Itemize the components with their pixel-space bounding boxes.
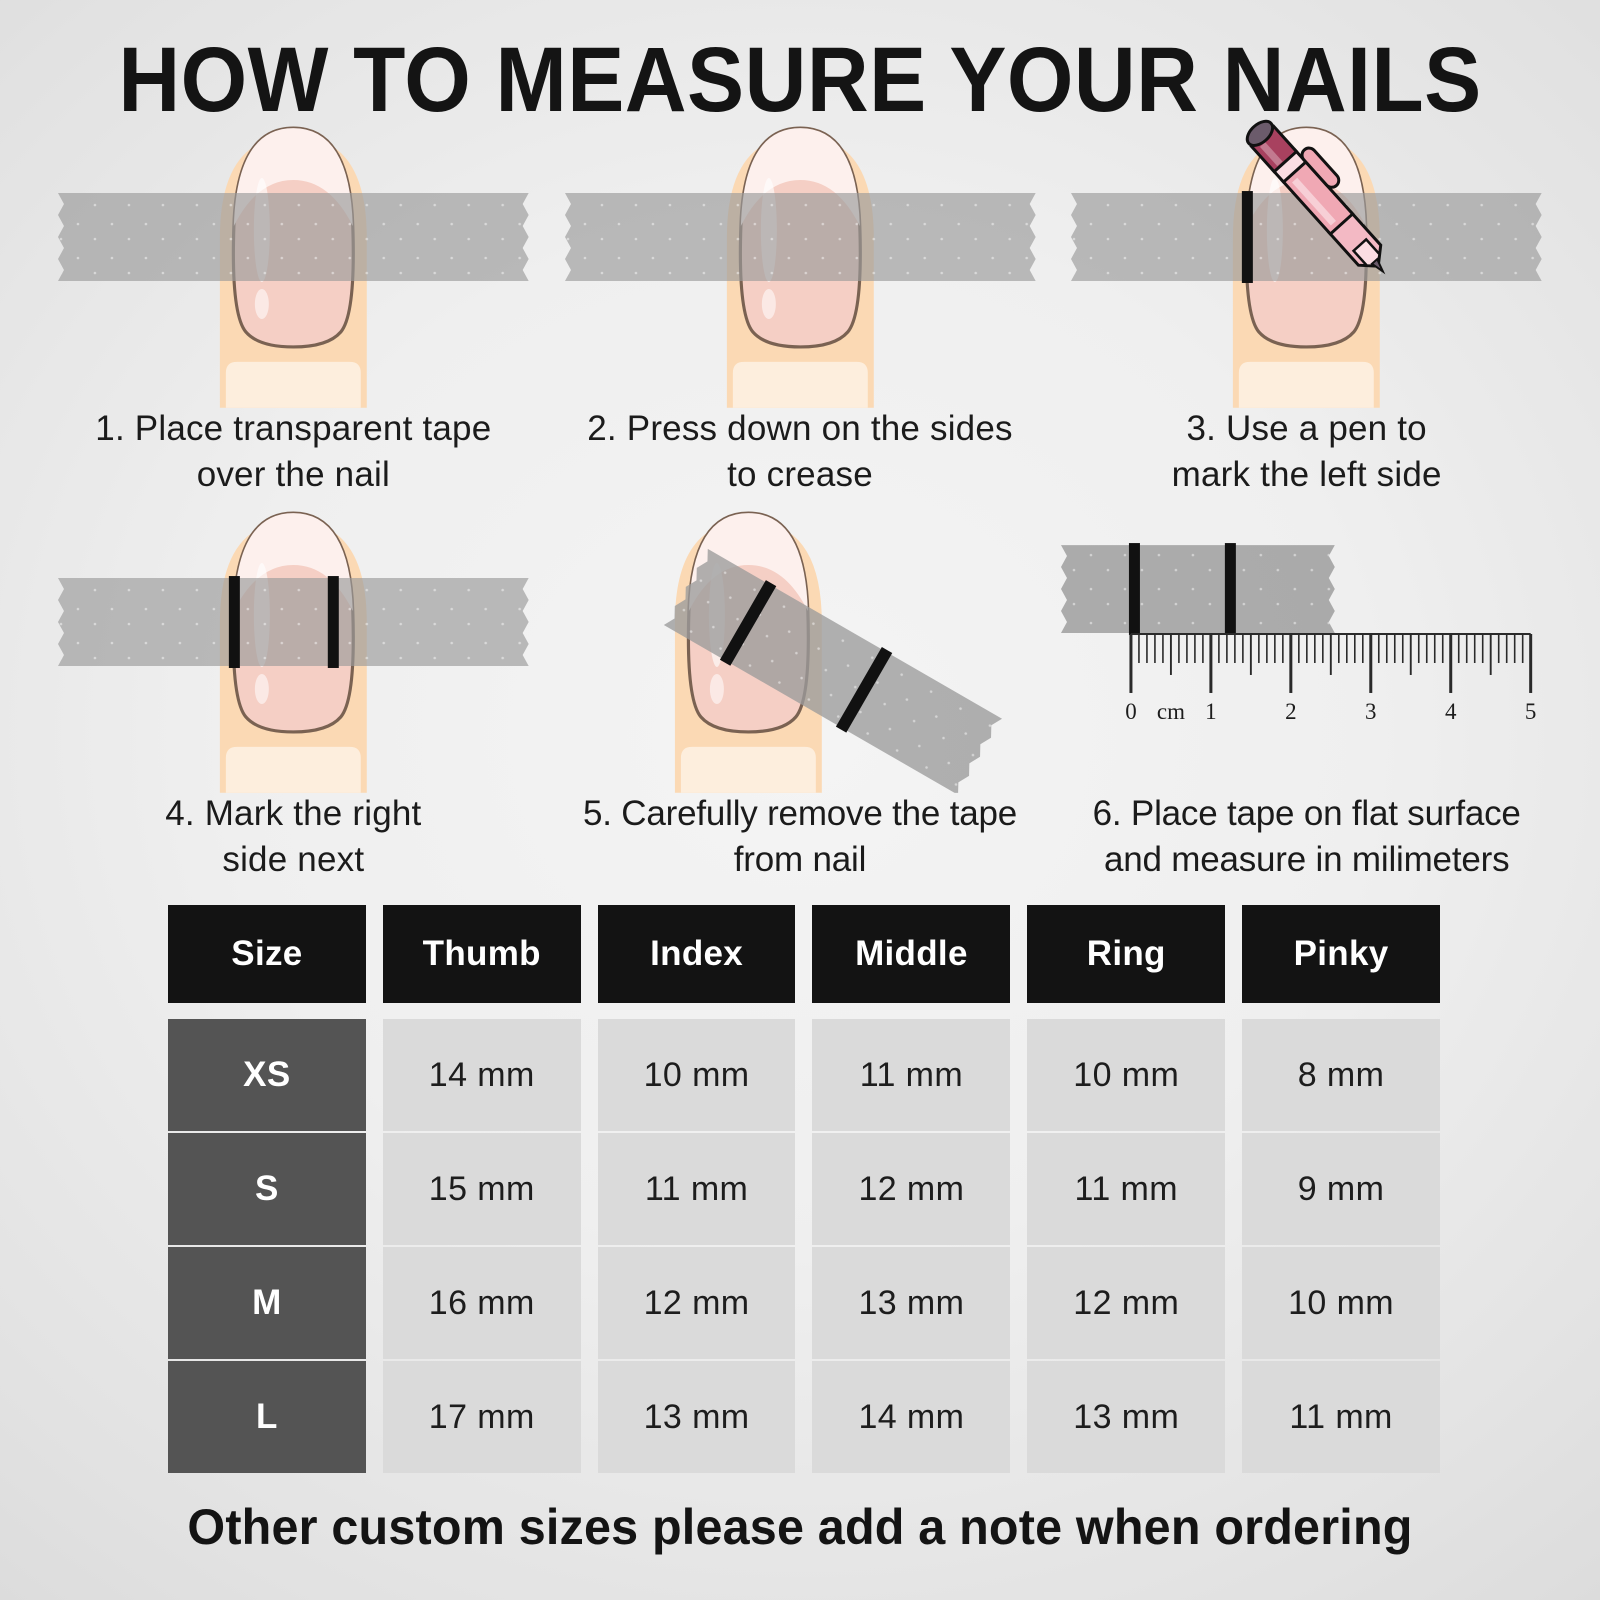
right-mark xyxy=(328,576,339,668)
table-cell: 11 mm xyxy=(1242,1361,1440,1473)
step-3-line-1: 3. Use a pen to xyxy=(1053,406,1560,452)
finger-tape-two-marks-icon xyxy=(40,503,547,793)
step-1-line-1: 1. Place transparent tape xyxy=(40,406,547,452)
ruler-label-3: 3 xyxy=(1365,699,1376,724)
ruler-label-1: 1 xyxy=(1205,699,1216,724)
table-cell: 11 mm xyxy=(1027,1133,1225,1245)
footer-note: Other custom sizes please add a note whe… xyxy=(24,1498,1576,1556)
table-cell: 13 mm xyxy=(1027,1361,1225,1473)
step-2-illustration xyxy=(547,118,1054,408)
finger-tape-pen-icon xyxy=(1053,118,1560,408)
table-header-ring: Ring xyxy=(1027,905,1225,1003)
step-6-caption: 6. Place tape on flat surface and measur… xyxy=(1053,791,1560,883)
table-row: M xyxy=(168,1247,366,1359)
step-1: 1. Place transparent tape over the nail xyxy=(40,118,547,503)
ruler-label-4: 4 xyxy=(1445,699,1457,724)
step-5-line-1: 5. Carefully remove the tape xyxy=(547,791,1054,837)
table-cell: 11 mm xyxy=(598,1133,796,1245)
step-6: 0 cm 1 2 3 4 5 6. Place tape on flat sur… xyxy=(1053,503,1560,888)
table-row: L xyxy=(168,1361,366,1473)
tape-strip xyxy=(58,193,529,281)
step-5-illustration xyxy=(547,503,1054,793)
finger-with-tape-icon xyxy=(40,118,547,408)
table-cell: 10 mm xyxy=(1027,1019,1225,1131)
step-3: 3. Use a pen to mark the left side xyxy=(1053,118,1560,503)
step-4-illustration xyxy=(40,503,547,793)
table-cell: 16 mm xyxy=(383,1247,581,1359)
step-4-line-1: 4. Mark the right xyxy=(40,791,547,837)
step-3-illustration xyxy=(1053,118,1560,408)
table-cell: 17 mm xyxy=(383,1361,581,1473)
step-1-caption: 1. Place transparent tape over the nail xyxy=(40,406,547,498)
step-5-caption: 5. Carefully remove the tape from nail xyxy=(547,791,1054,883)
step-1-line-2: over the nail xyxy=(40,452,547,498)
tape-on-ruler-icon: 0 cm 1 2 3 4 5 xyxy=(1053,503,1560,793)
table-row: XS xyxy=(168,1019,366,1131)
ruler-unit-label: cm xyxy=(1157,699,1185,724)
table-cell: 15 mm xyxy=(383,1133,581,1245)
tape-strip xyxy=(58,578,529,666)
table-cell: 12 mm xyxy=(598,1247,796,1359)
table-cell: 8 mm xyxy=(1242,1019,1440,1131)
step-6-line-2: and measure in milimeters xyxy=(1053,837,1560,883)
step-6-line-1: 6. Place tape on flat surface xyxy=(1053,791,1560,837)
left-mark xyxy=(1129,543,1140,635)
table-cell: 12 mm xyxy=(1027,1247,1225,1359)
table-row: S xyxy=(168,1133,366,1245)
table-header-index: Index xyxy=(598,905,796,1003)
ruler-label-0: 0 xyxy=(1126,699,1137,724)
finger-tape-removed-icon xyxy=(547,503,1054,793)
left-mark xyxy=(229,576,240,668)
table-cell: 12 mm xyxy=(812,1133,1010,1245)
step-2: 2. Press down on the sides to crease xyxy=(547,118,1054,503)
step-3-line-2: mark the left side xyxy=(1053,452,1560,498)
table-cell: 11 mm xyxy=(812,1019,1010,1131)
step-5-line-2: from nail xyxy=(547,837,1054,883)
step-2-line-2: to crease xyxy=(547,452,1054,498)
table-header-pinky: Pinky xyxy=(1242,905,1440,1003)
ruler-label-5: 5 xyxy=(1525,699,1536,724)
table-cell: 9 mm xyxy=(1242,1133,1440,1245)
table-header-middle: Middle xyxy=(812,905,1010,1003)
step-3-caption: 3. Use a pen to mark the left side xyxy=(1053,406,1560,498)
table-cell: 14 mm xyxy=(812,1361,1010,1473)
table-cell: 14 mm xyxy=(383,1019,581,1131)
step-6-illustration: 0 cm 1 2 3 4 5 xyxy=(1053,503,1560,793)
left-mark xyxy=(1242,191,1253,283)
size-chart-table: Size Thumb Index Middle Ring Pinky XS 14… xyxy=(168,905,1440,1459)
table-cell: 13 mm xyxy=(598,1361,796,1473)
tape-strip xyxy=(565,193,1036,281)
table-header-size: Size xyxy=(168,905,366,1003)
steps-grid: 1. Place transparent tape over the nail xyxy=(40,118,1560,888)
right-mark xyxy=(1225,543,1236,635)
tape-strip xyxy=(1061,543,1335,635)
step-4-line-2: side next xyxy=(40,837,547,883)
step-4: 4. Mark the right side next xyxy=(40,503,547,888)
finger-tape-creased-icon xyxy=(547,118,1054,408)
step-2-line-1: 2. Press down on the sides xyxy=(547,406,1054,452)
ruler xyxy=(1131,634,1531,693)
step-5: 5. Carefully remove the tape from nail xyxy=(547,503,1054,888)
step-2-caption: 2. Press down on the sides to crease xyxy=(547,406,1054,498)
table-cell: 10 mm xyxy=(1242,1247,1440,1359)
table-header-thumb: Thumb xyxy=(383,905,581,1003)
ruler-label-2: 2 xyxy=(1285,699,1296,724)
step-1-illustration xyxy=(40,118,547,408)
infographic-root: HOW TO MEASURE YOUR NAILS xyxy=(0,0,1600,1600)
table-cell: 13 mm xyxy=(812,1247,1010,1359)
step-4-caption: 4. Mark the right side next xyxy=(40,791,547,883)
table-cell: 10 mm xyxy=(598,1019,796,1131)
